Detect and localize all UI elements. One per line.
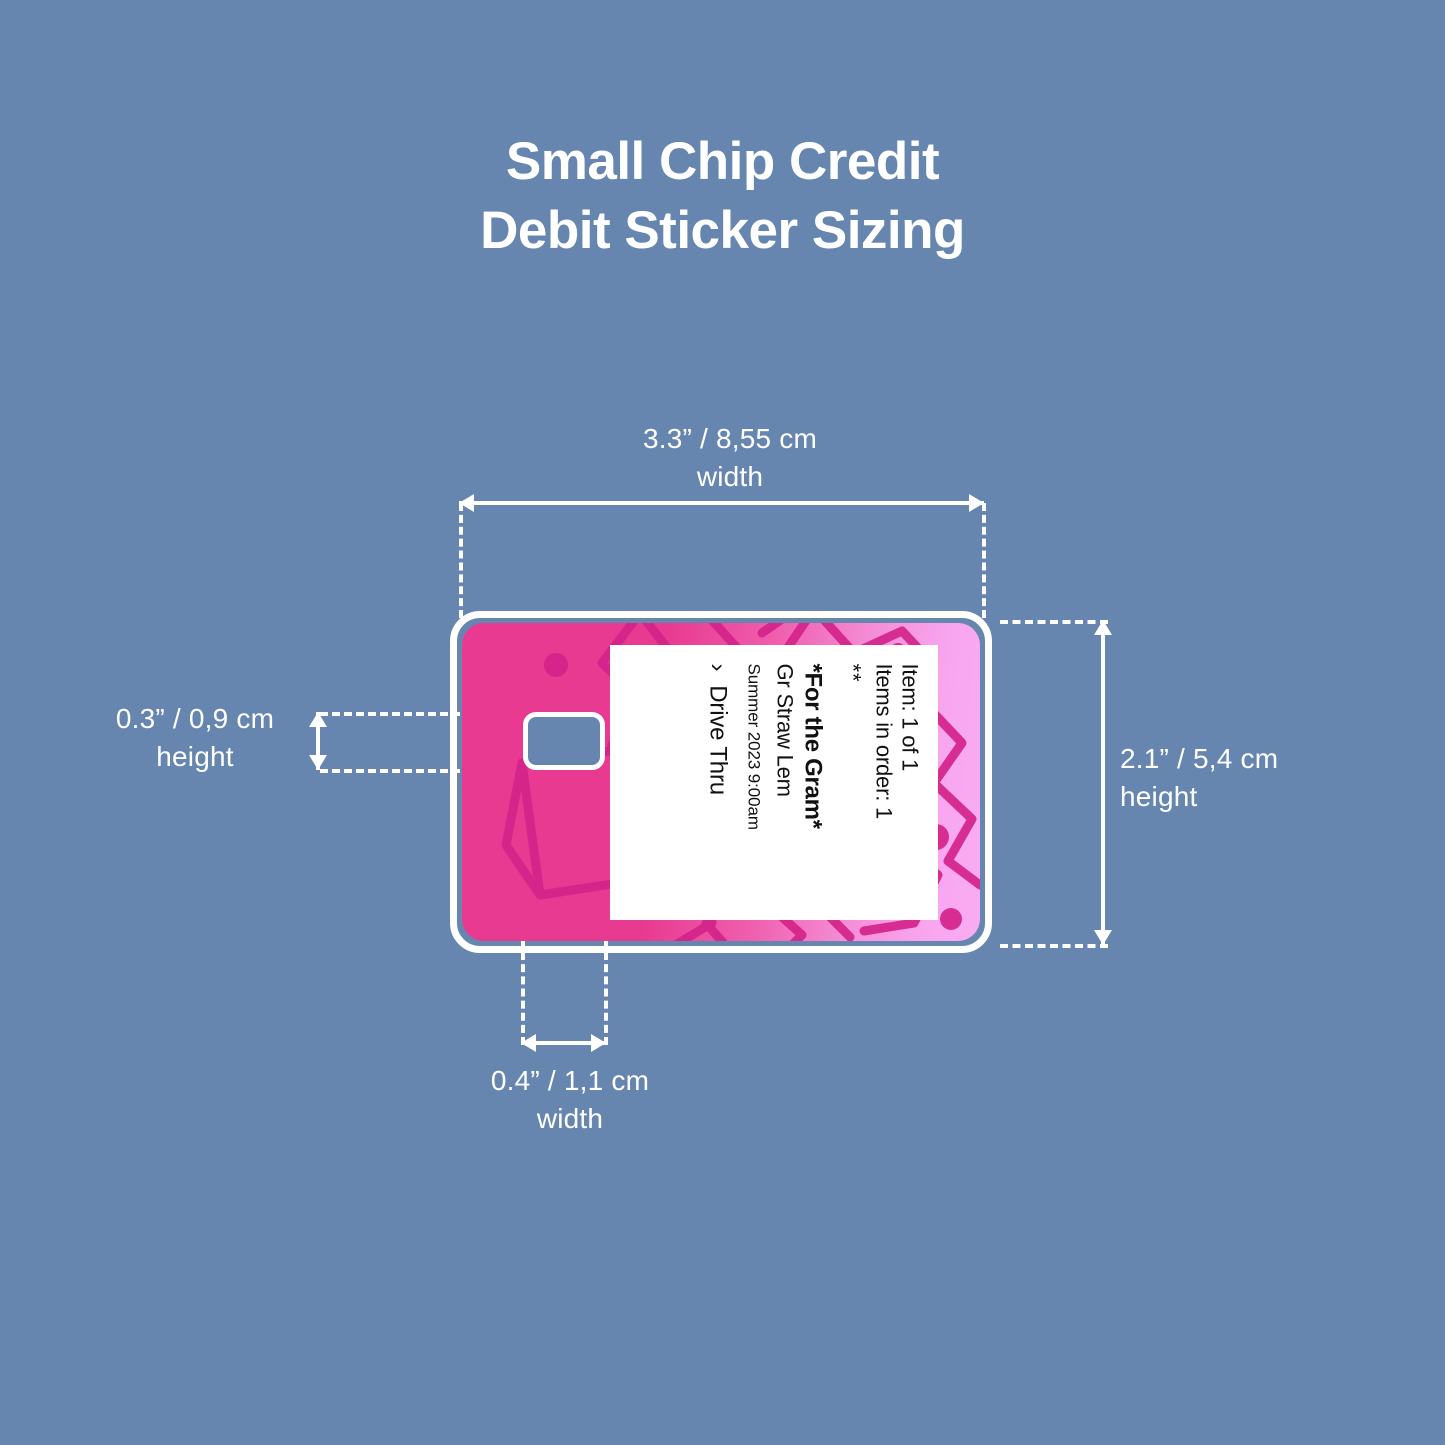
guide-line-card-right	[982, 503, 986, 618]
guide-line-card-left	[459, 503, 463, 618]
chip-width-value: 0.4” / 1,1 cm	[491, 1065, 649, 1096]
arrow-head-left-icon	[521, 1034, 536, 1052]
chip-width-label: 0.4” / 1,1 cm width	[460, 1062, 680, 1138]
receipt-sticker: Item: 1 of 1 Items in order: 1 ** *For t…	[610, 645, 938, 920]
receipt-content: Item: 1 of 1 Items in order: 1 ** *For t…	[610, 645, 938, 920]
chip-width-arrow	[521, 1032, 606, 1054]
card-height-value: 2.1” / 5,4 cm	[1120, 743, 1278, 774]
arrow-head-right-icon	[969, 494, 984, 512]
arrow-bar	[1101, 620, 1105, 945]
page-title-line-2: Debit Sticker Sizing	[0, 197, 1445, 266]
receipt-timestamp: Summer 2023 9:00am	[743, 663, 763, 902]
chip-height-label: 0.3” / 0,9 cm height	[80, 700, 310, 776]
receipt-item-count: Item: 1 of 1	[896, 663, 922, 902]
chevron-right-icon: ›	[705, 663, 729, 671]
illustration-canvas: Small Chip Credit Debit Sticker Sizing 3…	[0, 0, 1445, 1445]
chip-height-axis: height	[80, 738, 310, 776]
receipt-fulfillment-label: Drive Thru	[703, 685, 731, 795]
card-chip	[523, 712, 605, 770]
page-title-line-1: Small Chip Credit	[0, 128, 1445, 197]
chip-height-arrow	[307, 712, 329, 770]
arrow-head-right-icon	[591, 1034, 606, 1052]
receipt-stars-divider: **	[838, 663, 864, 902]
card-width-label: 3.3” / 8,55 cm width	[530, 420, 930, 496]
receipt-fulfillment-row: › Drive Thru	[703, 663, 731, 902]
card-width-arrow	[459, 492, 984, 514]
card-width-axis: width	[530, 458, 930, 496]
receipt-items-in-order: Items in order: 1	[870, 663, 896, 902]
arrow-bar	[459, 501, 984, 505]
card-height-label: 2.1” / 5,4 cm height	[1120, 740, 1370, 816]
chip-height-value: 0.3” / 0,9 cm	[116, 703, 274, 734]
arrow-head-up-icon	[309, 712, 327, 727]
arrow-head-down-icon	[1094, 930, 1112, 945]
page-title: Small Chip Credit Debit Sticker Sizing	[0, 128, 1445, 266]
chip-width-axis: width	[460, 1100, 680, 1138]
receipt-item-variant: Gr Straw Lem	[770, 663, 796, 902]
arrow-head-up-icon	[1094, 620, 1112, 635]
card-height-axis: height	[1120, 778, 1370, 816]
receipt-item-title: *For the Gram*	[798, 663, 826, 902]
card-width-value: 3.3” / 8,55 cm	[643, 423, 817, 454]
arrow-head-left-icon	[459, 494, 474, 512]
card-height-arrow	[1092, 620, 1114, 945]
arrow-head-down-icon	[309, 755, 327, 770]
